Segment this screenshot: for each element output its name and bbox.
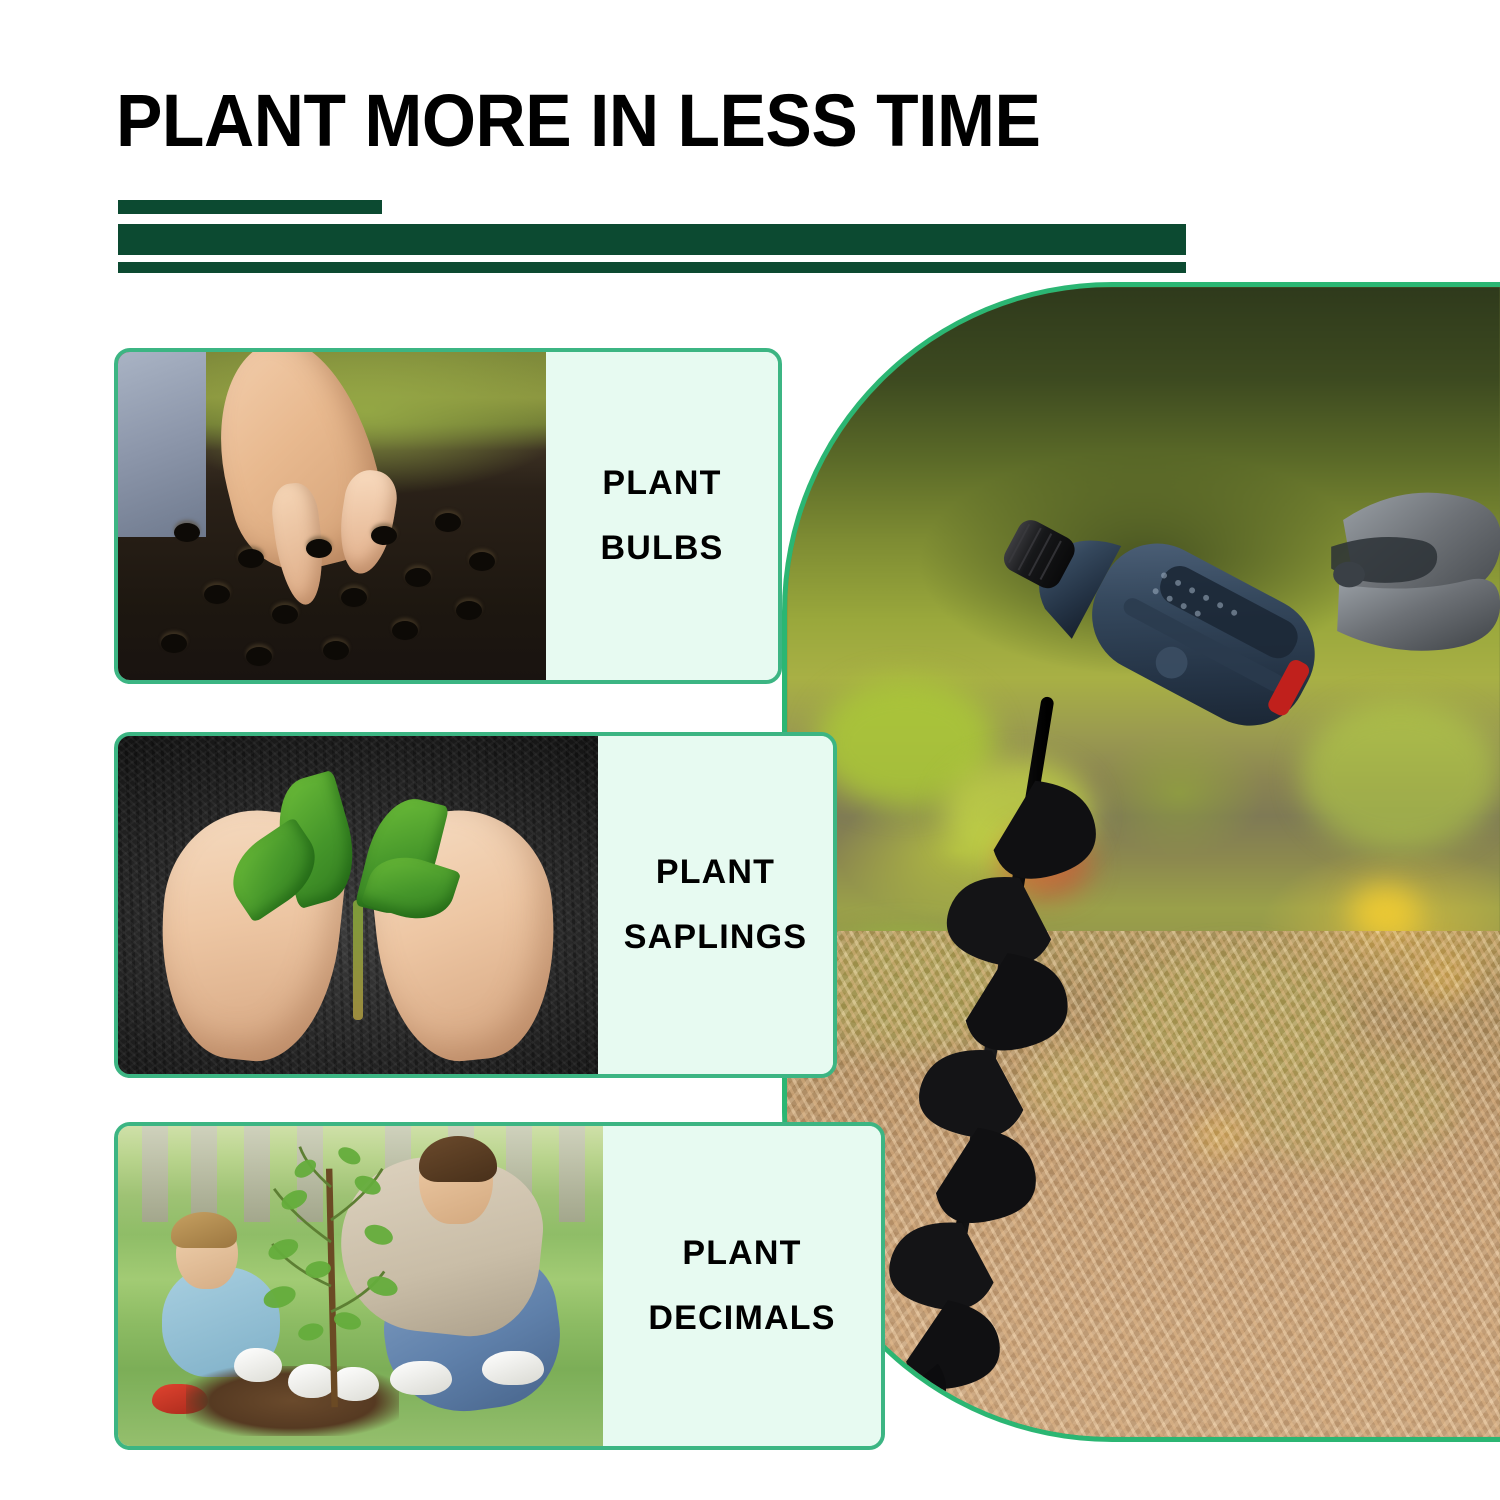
soil-hole [246, 647, 272, 666]
gloved-hand [1331, 493, 1500, 651]
rule-accent-short [118, 200, 382, 214]
feature-card-plant-bulbs[interactable]: PLANT BULBS [114, 348, 782, 684]
hero-product-photo-panel [782, 282, 1500, 1442]
rule-accent-thick [118, 224, 1186, 255]
sapling-stem [353, 900, 363, 1020]
page-title: PLANT MORE IN LESS TIME [116, 84, 1040, 158]
card-label-line-2: SAPLINGS [624, 918, 807, 957]
soil-hole [272, 605, 298, 624]
soil-hole [371, 526, 397, 545]
background-tree-trunk [559, 1126, 585, 1222]
young-tree [234, 1132, 428, 1407]
soil-hole [469, 552, 495, 571]
soil-hole [174, 523, 200, 542]
soil-hole [161, 634, 187, 653]
card-label-plant-bulbs: PLANT BULBS [546, 352, 778, 680]
man-shoe [482, 1351, 544, 1385]
soil-hole [405, 568, 431, 587]
man-hair [419, 1136, 497, 1182]
card-label-plant-decimals: PLANT DECIMALS [603, 1126, 881, 1446]
card-label-line-1: PLANT [656, 853, 775, 892]
card-label-line-2: DECIMALS [648, 1299, 835, 1338]
feature-card-plant-decimals[interactable]: PLANT DECIMALS [114, 1122, 885, 1450]
auger-bit [889, 703, 1096, 1414]
background-tree-trunk [191, 1126, 217, 1222]
card-label-line-1: PLANT [682, 1234, 801, 1273]
soil-hole [204, 585, 230, 604]
card-photo-plant-bulbs [118, 352, 546, 680]
hero-photo [787, 287, 1500, 1437]
auger-drill-illustration [787, 287, 1500, 1437]
background-tree-trunk [142, 1126, 168, 1222]
feature-card-plant-saplings[interactable]: PLANT SAPLINGS [114, 732, 837, 1078]
card-label-plant-saplings: PLANT SAPLINGS [598, 736, 833, 1074]
soil-hole [323, 641, 349, 660]
soil-hole [392, 621, 418, 640]
boy-hair [171, 1212, 237, 1248]
soil-hole [238, 549, 264, 568]
cordless-drill [984, 477, 1335, 746]
infographic-root: PLANT MORE IN LESS TIME [0, 0, 1500, 1500]
soil-hole [341, 588, 367, 607]
card-label-line-1: PLANT [602, 464, 721, 503]
card-label-line-2: BULBS [600, 529, 723, 568]
background-jeans [118, 352, 206, 537]
rule-accent-thin [118, 262, 1186, 273]
card-photo-plant-decimals [118, 1126, 603, 1446]
soil-hole [435, 513, 461, 532]
card-photo-plant-saplings [118, 736, 598, 1074]
soil-hole [456, 601, 482, 620]
